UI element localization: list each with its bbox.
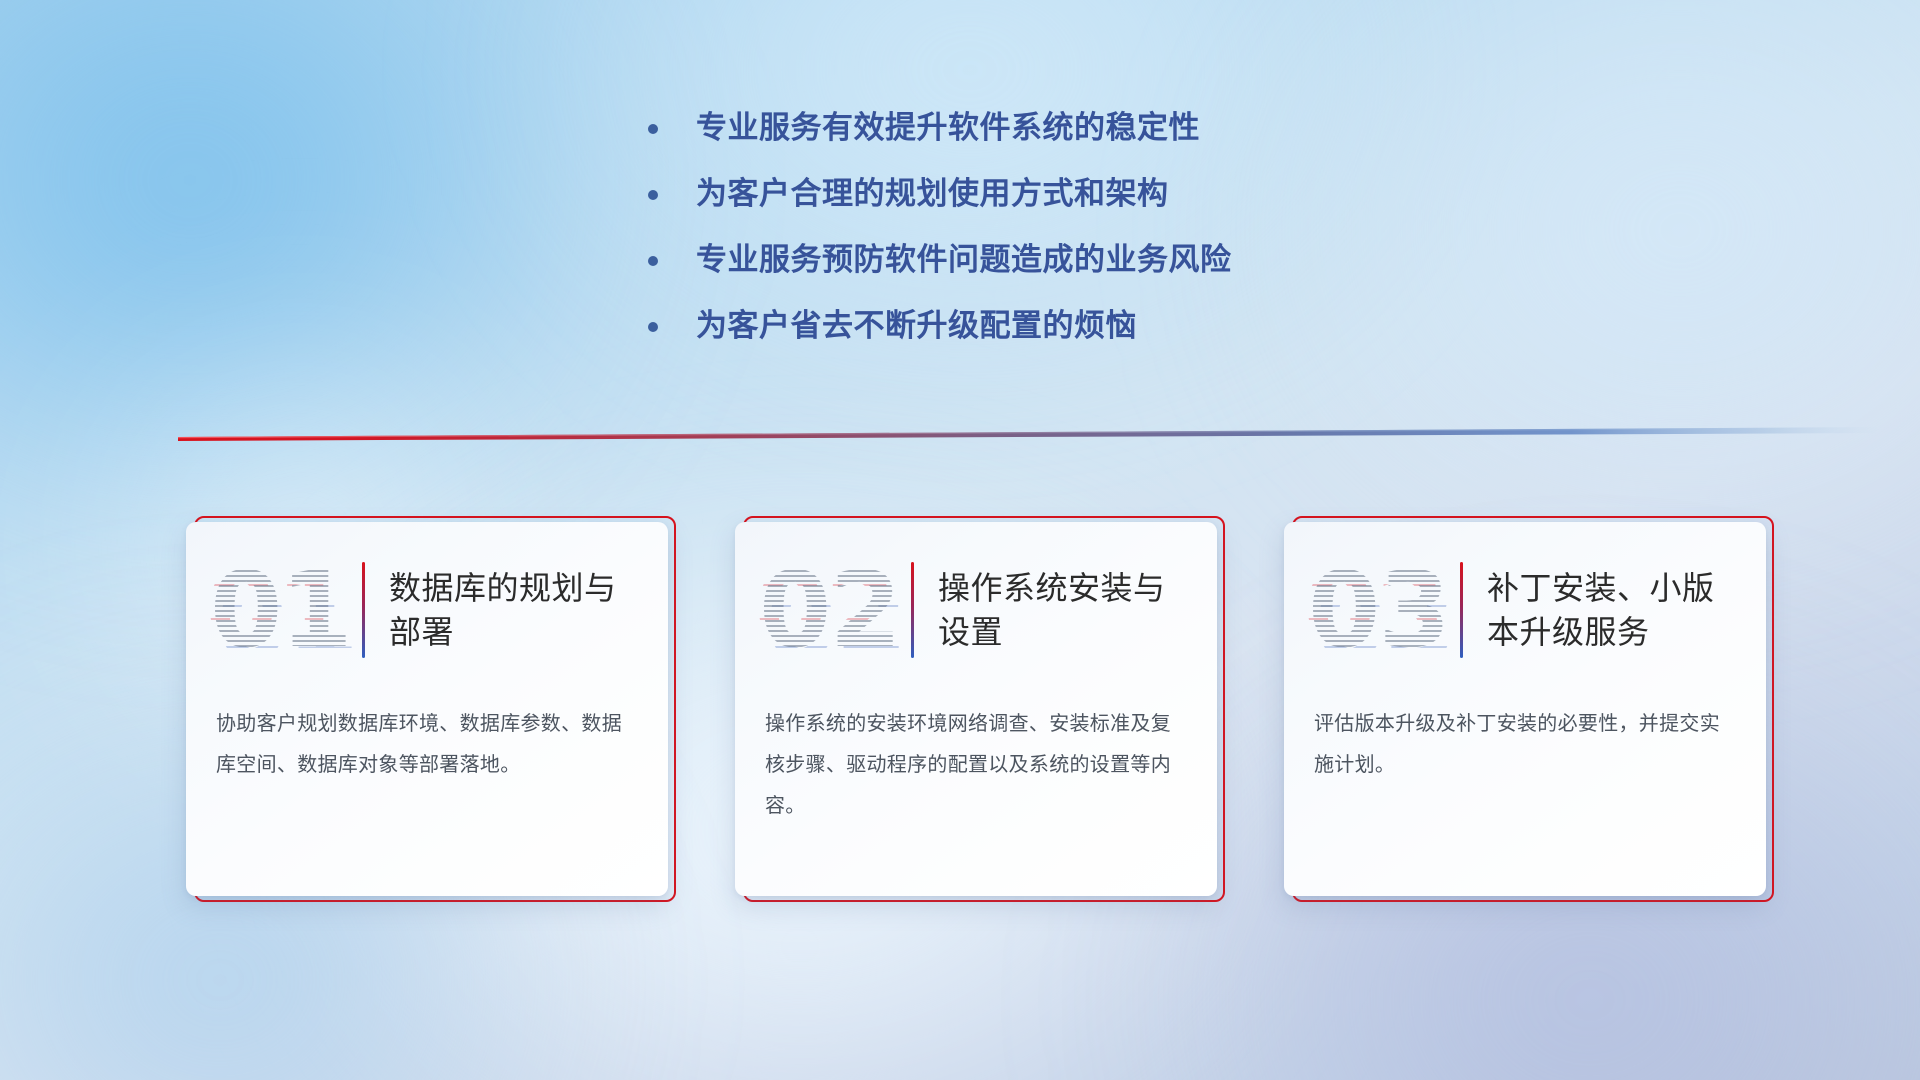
card-title: 补丁安装、小版本升级服务	[1487, 566, 1737, 654]
service-card[interactable]: 03 03 03 补丁安装、小版本升级服务 评估版本升级及补丁安装的必要性，并提…	[1284, 516, 1774, 902]
card-title-divider-bar	[362, 562, 365, 658]
bullet-item: 为客户省去不断升级配置的烦恼	[648, 306, 1548, 346]
card-number-glitch: 01 01 01	[210, 550, 350, 670]
card-number-glitch: 03 03 03	[1308, 550, 1448, 670]
card-description: 评估版本升级及补丁安装的必要性，并提交实施计划。	[1284, 698, 1766, 786]
card-header: 03 03 03 补丁安装、小版本升级服务	[1284, 522, 1766, 698]
bullet-item: 专业服务预防软件问题造成的业务风险	[648, 240, 1548, 280]
background-glow-top-left	[0, 0, 640, 560]
bullet-dot-icon	[648, 124, 658, 134]
card-title: 操作系统安装与设置	[938, 566, 1188, 654]
card-surface: 01 01 01 数据库的规划与部署 协助客户规划数据库环境、数据库参数、数据库…	[186, 522, 668, 896]
bullet-dot-icon	[648, 190, 658, 200]
card-header: 01 01 01 数据库的规划与部署	[186, 522, 668, 698]
bullet-item-label: 为客户省去不断升级配置的烦恼	[696, 306, 1137, 346]
card-number-label: 02	[759, 550, 899, 670]
section-divider	[178, 418, 1878, 444]
card-number-label: 03	[1308, 550, 1448, 670]
card-number-glitch: 02 02 02	[759, 550, 899, 670]
card-header: 02 02 02 操作系统安装与设置	[735, 522, 1217, 698]
bullet-item-label: 为客户合理的规划使用方式和架构	[696, 174, 1169, 214]
bullet-dot-icon	[648, 322, 658, 332]
card-title: 数据库的规划与部署	[389, 566, 639, 654]
service-card-list: 01 01 01 数据库的规划与部署 协助客户规划数据库环境、数据库参数、数据库…	[186, 516, 1774, 902]
bullet-item: 为客户合理的规划使用方式和架构	[648, 174, 1548, 214]
bullet-item-label: 专业服务预防软件问题造成的业务风险	[696, 240, 1232, 280]
section-divider-shape	[178, 418, 1878, 444]
card-title-divider-bar	[911, 562, 914, 658]
card-number-label: 01	[210, 550, 350, 670]
card-title-divider-bar	[1460, 562, 1463, 658]
card-surface: 02 02 02 操作系统安装与设置 操作系统的安装环境网络调查、安装标准及复核…	[735, 522, 1217, 896]
card-surface: 03 03 03 补丁安装、小版本升级服务 评估版本升级及补丁安装的必要性，并提…	[1284, 522, 1766, 896]
bullet-dot-icon	[648, 256, 658, 266]
card-description: 操作系统的安装环境网络调查、安装标准及复核步骤、驱动程序的配置以及系统的设置等内…	[735, 698, 1217, 827]
service-card[interactable]: 01 01 01 数据库的规划与部署 协助客户规划数据库环境、数据库参数、数据库…	[186, 516, 676, 902]
service-card[interactable]: 02 02 02 操作系统安装与设置 操作系统的安装环境网络调查、安装标准及复核…	[735, 516, 1225, 902]
benefits-bullet-list: 专业服务有效提升软件系统的稳定性 为客户合理的规划使用方式和架构 专业服务预防软…	[648, 108, 1548, 346]
bullet-item: 专业服务有效提升软件系统的稳定性	[648, 108, 1548, 148]
bullet-item-label: 专业服务有效提升软件系统的稳定性	[696, 108, 1200, 148]
card-description: 协助客户规划数据库环境、数据库参数、数据库空间、数据库对象等部署落地。	[186, 698, 668, 786]
